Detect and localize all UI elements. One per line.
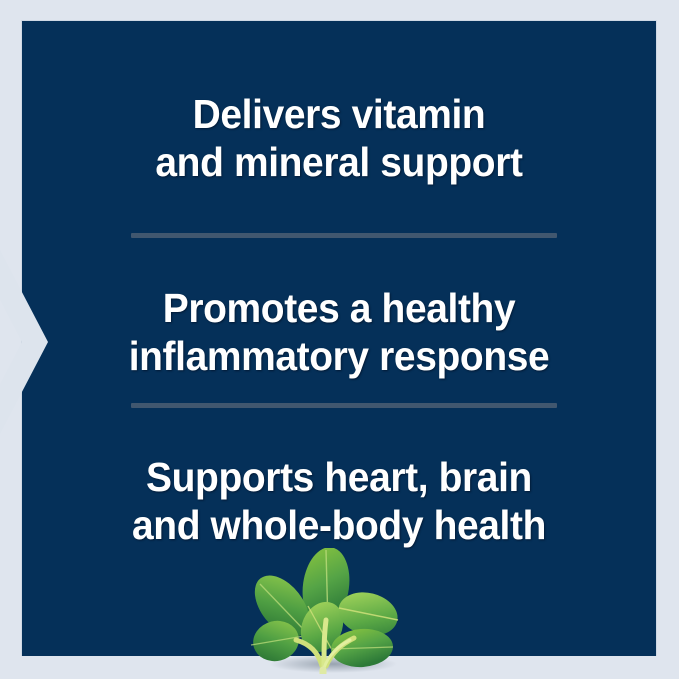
benefit-item-vitamin-mineral-support: Delivers vitamin and mineral support (38, 90, 640, 186)
benefit-item-inflammatory-response: Promotes a healthy inflammatory response (38, 284, 640, 380)
benefit-divider-two (131, 403, 557, 408)
benefit-divider-one (131, 233, 557, 238)
benefit-line-2: and mineral support (38, 138, 640, 186)
peanut-plant-leaves-icon (238, 548, 424, 674)
benefit-line-1: Supports heart, brain (38, 453, 640, 501)
benefit-item-whole-body-health: Supports heart, brain and whole-body hea… (38, 453, 640, 549)
benefit-line-2: inflammatory response (38, 332, 640, 380)
benefit-line-2: and whole-body health (38, 501, 640, 549)
benefit-line-1: Delivers vitamin (38, 90, 640, 138)
benefit-line-1: Promotes a healthy (38, 284, 640, 332)
infographic-canvas: Delivers vitamin and mineral support Pro… (0, 0, 679, 679)
